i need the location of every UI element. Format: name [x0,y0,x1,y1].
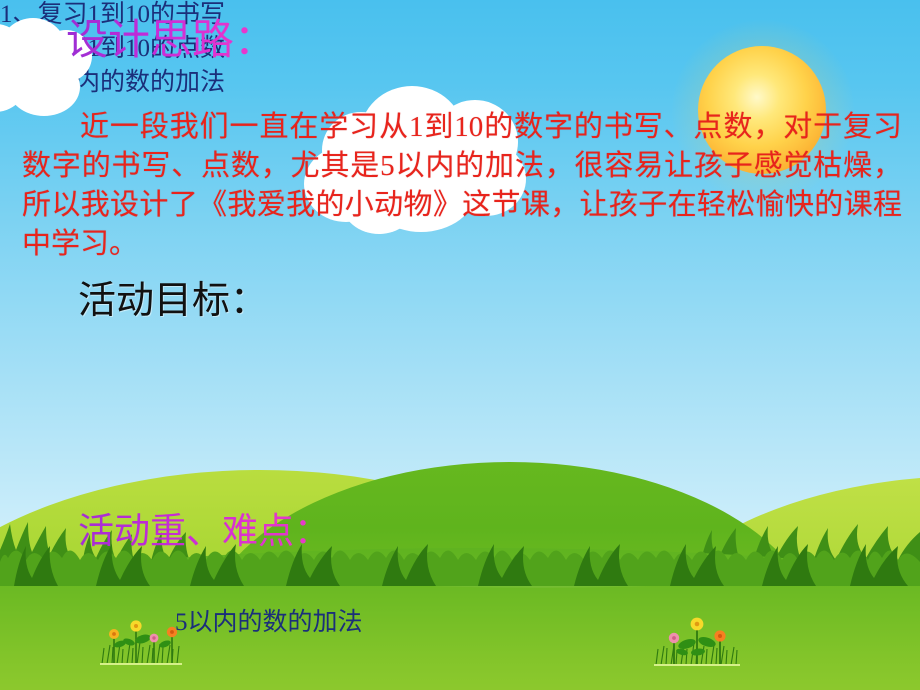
key-points-body: 5以内的数的加法 [175,608,363,638]
activity-goals-heading: 活动目标： [78,281,268,323]
flower-cluster-icon [652,610,742,668]
presentation-slide: 设计思路： 近一段我们一直在学习从1到10的数字的书写、点数，对于复习数字的书写… [0,0,920,690]
key-points-heading: 活动重、难点： [78,512,330,552]
design-idea-body: 近一段我们一直在学习从1到10的数字的书写、点数，对于复习数字的书写、点数，尤其… [22,108,902,264]
design-idea-heading: 设计思路： [66,18,276,64]
flower-cluster-icon [98,612,184,666]
